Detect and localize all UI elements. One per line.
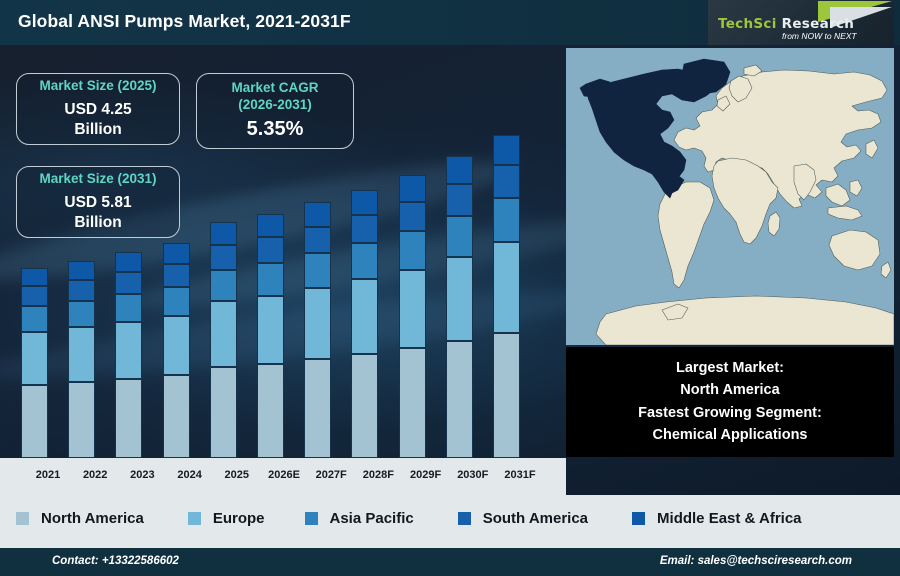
- bar-segment-south-america[interactable]: [351, 215, 378, 243]
- bar-2028f[interactable]: [351, 189, 378, 458]
- bar-segment-europe[interactable]: [257, 296, 284, 364]
- legend-label: South America: [483, 510, 588, 527]
- bar-segment-north-america[interactable]: [115, 379, 142, 458]
- bar-segment-asia-pacific[interactable]: [68, 301, 95, 328]
- bar-segment-asia-pacific[interactable]: [115, 294, 142, 322]
- bar-segment-north-america[interactable]: [68, 382, 95, 458]
- bar-segment-south-america[interactable]: [163, 264, 190, 287]
- bar-segment-europe[interactable]: [399, 270, 426, 349]
- bar-segment-north-america[interactable]: [493, 333, 520, 458]
- page-title: Global ANSI Pumps Market, 2021-2031F: [18, 11, 351, 32]
- bar-segment-middle-east-africa[interactable]: [68, 261, 95, 280]
- footer-bar: Contact: +13322586602 Email: sales@techs…: [0, 548, 900, 576]
- footer-contact: Contact: +13322586602: [52, 555, 179, 567]
- legend-item-south-america[interactable]: South America: [458, 510, 588, 527]
- bar-segment-asia-pacific[interactable]: [399, 231, 426, 269]
- largest-market-label: Largest Market:: [676, 358, 784, 379]
- bar-segment-south-america[interactable]: [210, 245, 237, 270]
- x-axis-label-2031f: 2031F: [492, 469, 548, 481]
- legend-swatch-icon: [188, 512, 201, 525]
- bar-segment-europe[interactable]: [115, 322, 142, 379]
- legend-item-europe[interactable]: Europe: [188, 510, 265, 527]
- bar-segment-south-america[interactable]: [399, 202, 426, 231]
- bar-segment-south-america[interactable]: [493, 165, 520, 199]
- bar-segment-south-america[interactable]: [446, 184, 473, 216]
- bar-segment-middle-east-africa[interactable]: [304, 202, 331, 226]
- bar-segment-north-america[interactable]: [351, 354, 378, 458]
- bar-segment-asia-pacific[interactable]: [257, 263, 284, 296]
- legend-swatch-icon: [632, 512, 645, 525]
- bar-segment-south-america[interactable]: [304, 227, 331, 254]
- bar-segment-north-america[interactable]: [446, 341, 473, 458]
- fastest-segment-value: Chemical Applications: [653, 425, 808, 446]
- bar-segment-middle-east-africa[interactable]: [210, 222, 237, 245]
- bar-segment-middle-east-africa[interactable]: [257, 214, 284, 237]
- bar-segment-north-america[interactable]: [304, 359, 331, 458]
- bar-2025[interactable]: [210, 222, 237, 458]
- bar-segment-asia-pacific[interactable]: [210, 270, 237, 302]
- bar-2029f[interactable]: [399, 175, 426, 458]
- bar-2026e[interactable]: [257, 214, 284, 458]
- bar-segment-europe[interactable]: [68, 327, 95, 381]
- header-bar: Global ANSI Pumps Market, 2021-2031F Tec…: [0, 0, 900, 45]
- bar-segment-asia-pacific[interactable]: [351, 243, 378, 279]
- bar-segment-north-america[interactable]: [399, 348, 426, 458]
- key-insights-box: Largest Market: North America Fastest Gr…: [566, 347, 894, 457]
- bar-2021[interactable]: [21, 268, 48, 458]
- footer-email: Email: sales@techsciresearch.com: [660, 555, 852, 567]
- fastest-segment-label: Fastest Growing Segment:: [638, 403, 822, 424]
- legend-swatch-icon: [305, 512, 318, 525]
- chart-legend: North AmericaEuropeAsia PacificSouth Ame…: [0, 495, 900, 542]
- bar-segment-asia-pacific[interactable]: [21, 306, 48, 332]
- legend-item-asia-pacific[interactable]: Asia Pacific: [305, 510, 414, 527]
- bar-segment-europe[interactable]: [163, 316, 190, 375]
- world-map-svg: [566, 48, 894, 345]
- bar-segment-europe[interactable]: [446, 257, 473, 341]
- bar-segment-middle-east-africa[interactable]: [21, 268, 48, 286]
- bar-segment-north-america[interactable]: [21, 385, 48, 458]
- bar-segment-middle-east-africa[interactable]: [351, 190, 378, 215]
- bar-segment-south-america[interactable]: [68, 280, 95, 301]
- bar-2024[interactable]: [163, 243, 190, 458]
- bar-segment-asia-pacific[interactable]: [304, 253, 331, 287]
- bar-segment-north-america[interactable]: [257, 364, 284, 459]
- legend-label: Middle East & Africa: [657, 510, 801, 527]
- bar-2031f[interactable]: [493, 135, 520, 458]
- legend-swatch-icon: [16, 512, 29, 525]
- stacked-bar-chart: 202120222023202420252026E2027F2028F2029F…: [0, 45, 566, 495]
- legend-label: Asia Pacific: [330, 510, 414, 527]
- bar-segment-europe[interactable]: [493, 242, 520, 333]
- bar-segment-europe[interactable]: [210, 301, 237, 367]
- bar-segment-europe[interactable]: [351, 279, 378, 354]
- legend-item-north-america[interactable]: North America: [16, 510, 144, 527]
- bar-2023[interactable]: [115, 252, 142, 458]
- legend-item-middle-east-africa[interactable]: Middle East & Africa: [632, 510, 801, 527]
- legend-label: North America: [41, 510, 144, 527]
- bar-segment-asia-pacific[interactable]: [493, 198, 520, 242]
- bar-segment-north-america[interactable]: [163, 375, 190, 458]
- logo-text-research: Research: [782, 16, 855, 32]
- bar-segment-europe[interactable]: [21, 332, 48, 385]
- largest-market-value: North America: [680, 380, 779, 401]
- bar-segment-south-america[interactable]: [21, 286, 48, 306]
- legend-swatch-icon: [458, 512, 471, 525]
- legend-label: Europe: [213, 510, 265, 527]
- bar-segment-asia-pacific[interactable]: [446, 216, 473, 257]
- infographic-page: Global ANSI Pumps Market, 2021-2031F Tec…: [0, 0, 900, 576]
- bar-segment-europe[interactable]: [304, 288, 331, 359]
- bar-segment-middle-east-africa[interactable]: [493, 135, 520, 164]
- bar-segment-middle-east-africa[interactable]: [399, 175, 426, 202]
- bar-segment-south-america[interactable]: [115, 272, 142, 294]
- bar-segment-middle-east-africa[interactable]: [115, 252, 142, 272]
- world-map: [566, 48, 894, 345]
- bar-segment-middle-east-africa[interactable]: [446, 156, 473, 184]
- logo-tagline: from NOW to NEXT: [782, 31, 857, 41]
- techsci-research-logo: TechSci Research from NOW to NEXT: [708, 0, 894, 45]
- logo-wordmark: TechSci Research: [718, 16, 854, 32]
- bar-segment-south-america[interactable]: [257, 237, 284, 263]
- bar-segment-asia-pacific[interactable]: [163, 287, 190, 316]
- logo-text-techsci: TechSci: [718, 16, 777, 32]
- bar-segment-north-america[interactable]: [210, 367, 237, 458]
- bar-2030f[interactable]: [446, 156, 473, 458]
- bar-2027f[interactable]: [304, 202, 331, 458]
- bar-segment-middle-east-africa[interactable]: [163, 243, 190, 264]
- bar-2022[interactable]: [68, 261, 95, 458]
